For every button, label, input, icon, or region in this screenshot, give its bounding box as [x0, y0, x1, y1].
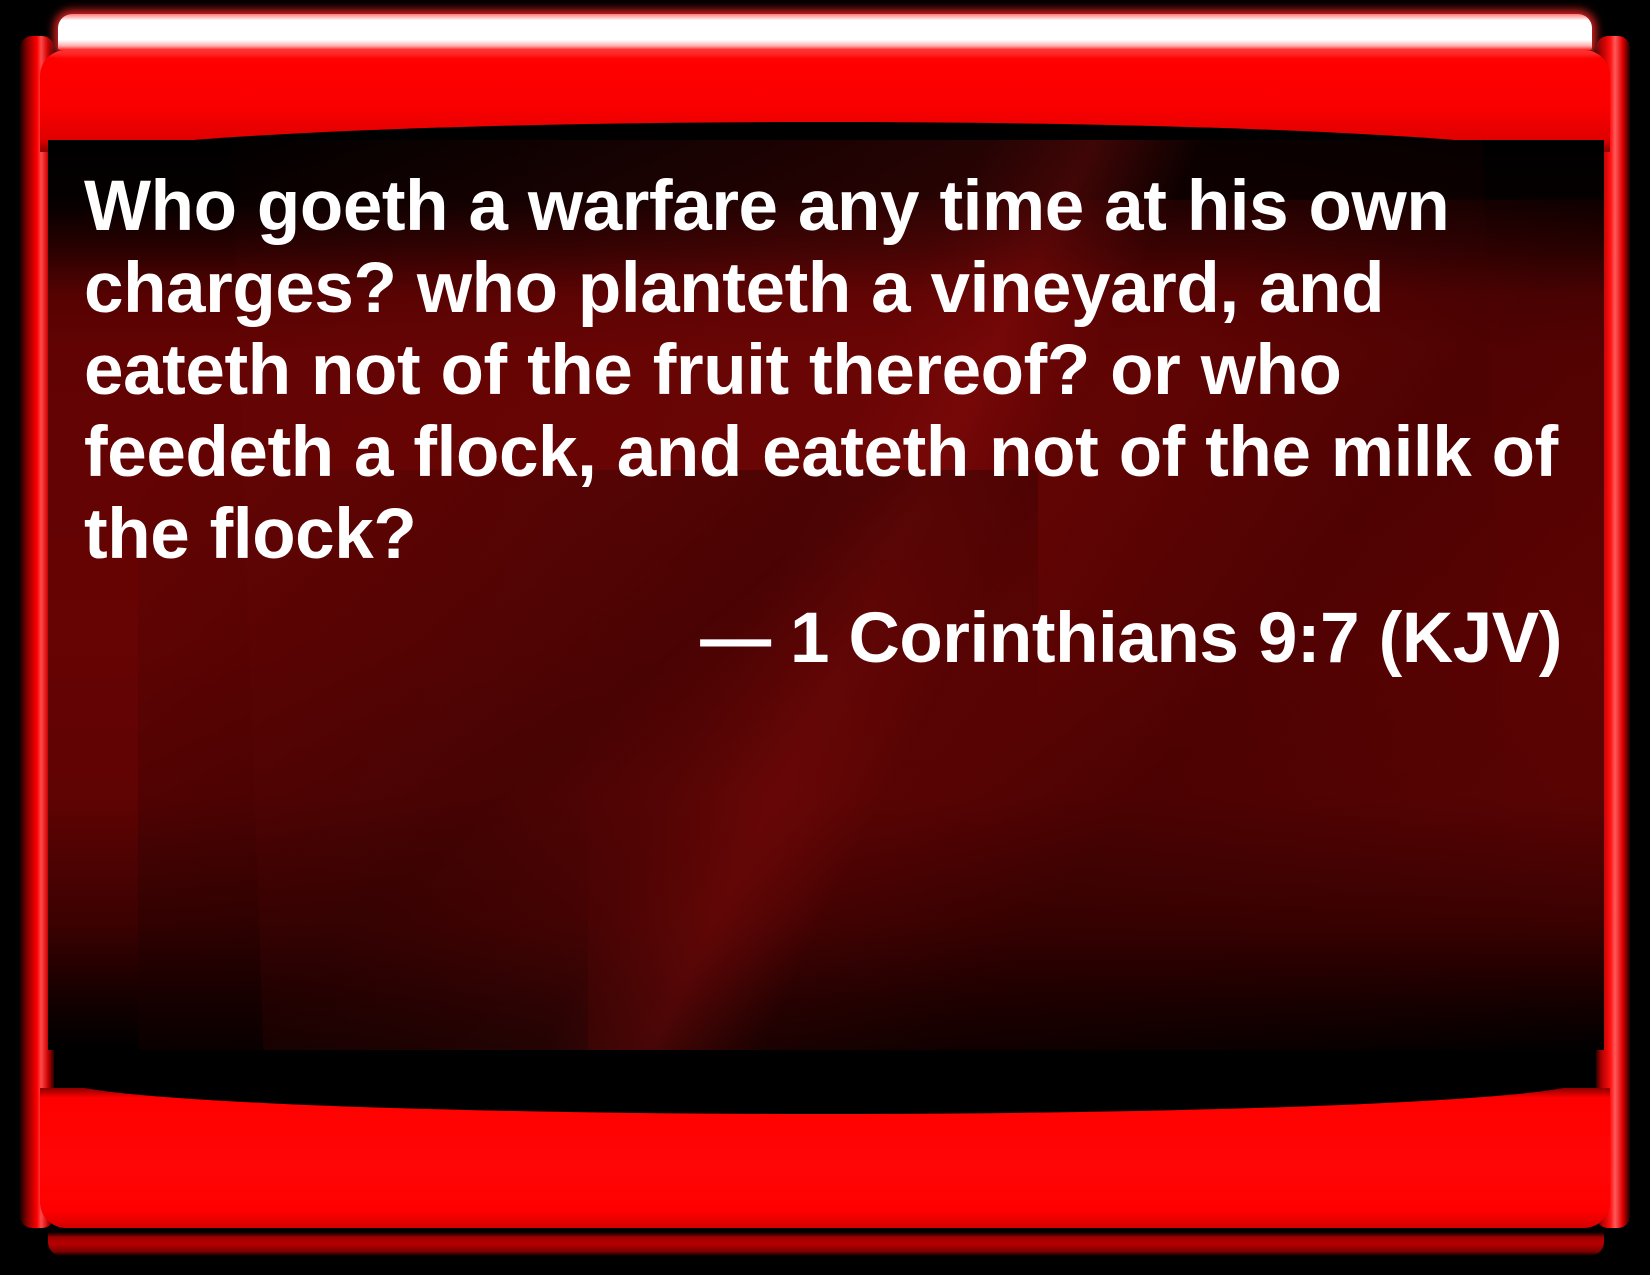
quote-block: Who goeth a warfare any time at his own …	[84, 166, 1568, 680]
scripture-quote-text: Who goeth a warfare any time at his own …	[84, 166, 1568, 576]
scripture-citation: — 1 Corinthians 9:7 (KJV)	[84, 598, 1568, 680]
frame-top-white-highlight	[58, 14, 1592, 50]
quote-canvas: Who goeth a warfare any time at his own …	[48, 140, 1604, 1050]
frame-bottom-underglow	[48, 1232, 1604, 1256]
scripture-quote-slide: Who goeth a warfare any time at his own …	[0, 0, 1650, 1275]
